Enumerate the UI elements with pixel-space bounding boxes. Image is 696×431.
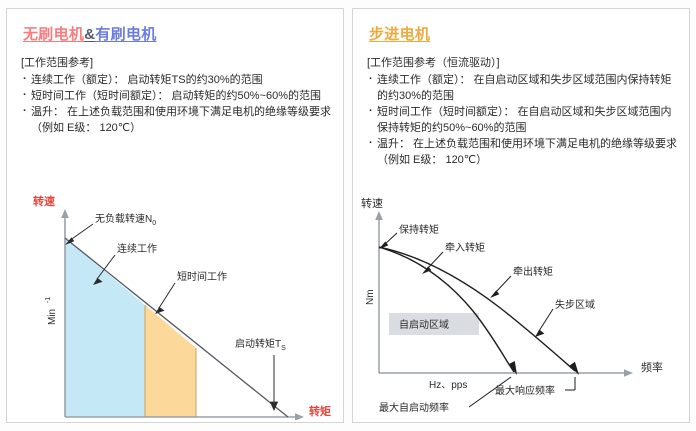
y-axis-arrowhead xyxy=(375,211,383,220)
leader-pullout-torque xyxy=(495,276,511,293)
title-stepper-motor: 步进电机 xyxy=(369,26,430,43)
list-item: 短时间工作（短时间额定）： 在自启动区域和失步区域范围内保持转矩的约50%~60… xyxy=(367,105,679,137)
region-continuous-duty xyxy=(65,238,145,417)
region-short-time-duty xyxy=(145,305,196,417)
right-chart-container: 自启动区域 转速 频率 Nm H xyxy=(353,195,689,420)
slide-stage: 无刷电机&有刷电机 [工作范围参考] 连续工作（额定）： 启动转矩TS的约30%… xyxy=(0,0,696,431)
annotation-pullin-torque: 牵入转矩 xyxy=(445,241,485,254)
list-item: 连续工作（额定）： 在自启动区域和失步区域范围内保持转矩的约30%的范围 xyxy=(367,73,679,105)
annotation-starting-torque: 启动转矩TS xyxy=(235,337,286,352)
x-axis-title: 频率 xyxy=(641,360,663,374)
list-item: 短时间工作（短时间额定）： 启动转矩的约50%~60%的范围 xyxy=(21,89,333,105)
left-panel-title: 无刷电机&有刷电机 xyxy=(23,23,333,44)
y-axis-unit: Nm xyxy=(365,289,376,305)
title-part-brushed: 有刷电机 xyxy=(95,26,156,43)
leader-slip-region xyxy=(539,309,553,331)
list-item: 温升： 在上述负载范围和使用环境下满足电机的绝缘等级要求（例如 E级： 120℃… xyxy=(367,137,679,169)
x-axis-arrowhead xyxy=(624,369,633,377)
x-axis-arrowhead xyxy=(295,413,304,420)
right-panel-heading: [工作范围参考（恒流驱动）] xyxy=(367,56,679,72)
right-panel-bullet-list: 连续工作（额定）： 在自启动区域和失步区域范围内保持转矩的约30%的范围 短时间… xyxy=(367,73,679,169)
y-axis-title: 转速 xyxy=(33,195,55,208)
list-item: 温升： 在上述负载范围和使用环境下满足电机的绝缘等级要求（例如 E级： 120℃… xyxy=(21,105,333,137)
x-axis-title: 转矩 xyxy=(309,404,331,418)
annotation-self-start-region: 自启动区域 xyxy=(399,318,449,331)
annotation-short-time-duty: 短时间工作 xyxy=(177,270,227,283)
annotation-slip-region: 失步区域 xyxy=(555,298,595,311)
annotation-continuous-duty: 连续工作 xyxy=(117,242,157,255)
stepper-frequency-torque-chart: 自启动区域 转速 频率 Nm H xyxy=(353,195,690,420)
y-axis-unit-exponent: -1 xyxy=(45,297,52,303)
list-item: 连续工作（额定）： 启动转矩TS的约30%的范围 xyxy=(21,73,333,89)
annotation-holding-torque: 保持转矩 xyxy=(399,223,439,236)
title-part-brushless: 无刷电机 xyxy=(23,26,84,43)
left-chart-container: 转速 转矩 Min -1 0 Nm 无负载转速N0 连续工作 xyxy=(7,195,343,420)
y-axis-unit: Min xyxy=(47,309,58,325)
curve-pullin-torque xyxy=(379,247,514,372)
annotation-max-self-start-frequency: 最大自启动频率 xyxy=(379,401,449,414)
leader-short-time-duty xyxy=(159,283,175,308)
leader-no-load-speed xyxy=(69,224,93,241)
right-panel-title: 步进电机 xyxy=(369,23,679,44)
y-axis-arrowhead xyxy=(61,209,69,218)
left-panel-bodytext: [工作范围参考] 连续工作（额定）： 启动转矩TS的约30%的范围 短时间工作（… xyxy=(21,56,333,137)
arrowhead-pullout-torque-label xyxy=(490,290,499,298)
left-panel-bullet-list: 连续工作（额定）： 启动转矩TS的约30%的范围 短时间工作（短时间额定）： 启… xyxy=(21,73,333,137)
annotation-pullout-torque: 牵出转矩 xyxy=(513,265,553,278)
left-panel-heading: [工作范围参考] xyxy=(21,56,333,72)
left-panel-brushless-brushed: 无刷电机&有刷电机 [工作范围参考] 连续工作（额定）： 启动转矩TS的约30%… xyxy=(6,8,344,423)
title-part-ampersand: & xyxy=(84,26,95,43)
arrowhead-short-time-duty xyxy=(155,307,165,314)
curve-pullout-torque xyxy=(379,247,575,371)
arrowhead-starting-torque xyxy=(270,402,278,411)
annotation-max-response-frequency: 最大响应频率 xyxy=(495,384,555,397)
y-axis-title: 转速 xyxy=(361,196,383,210)
speed-torque-chart: 转速 转矩 Min -1 0 Nm 无负载转速N0 连续工作 xyxy=(7,195,344,420)
arrowhead-slip-region xyxy=(535,330,544,338)
annotation-no-load-speed: 无负载转速N0 xyxy=(95,212,156,227)
y-axis-unit-group: Nm xyxy=(365,289,376,305)
right-panel-stepper: 步进电机 [工作范围参考（恒流驱动）] 连续工作（额定）： 在自启动区域和失步区… xyxy=(352,8,690,423)
y-axis-unit-group: Min -1 xyxy=(45,297,58,325)
x-axis-unit: Hz、pps xyxy=(429,380,467,391)
right-panel-bodytext: [工作范围参考（恒流驱动）] 连续工作（额定）： 在自启动区域和失步区域范围内保… xyxy=(367,56,679,169)
